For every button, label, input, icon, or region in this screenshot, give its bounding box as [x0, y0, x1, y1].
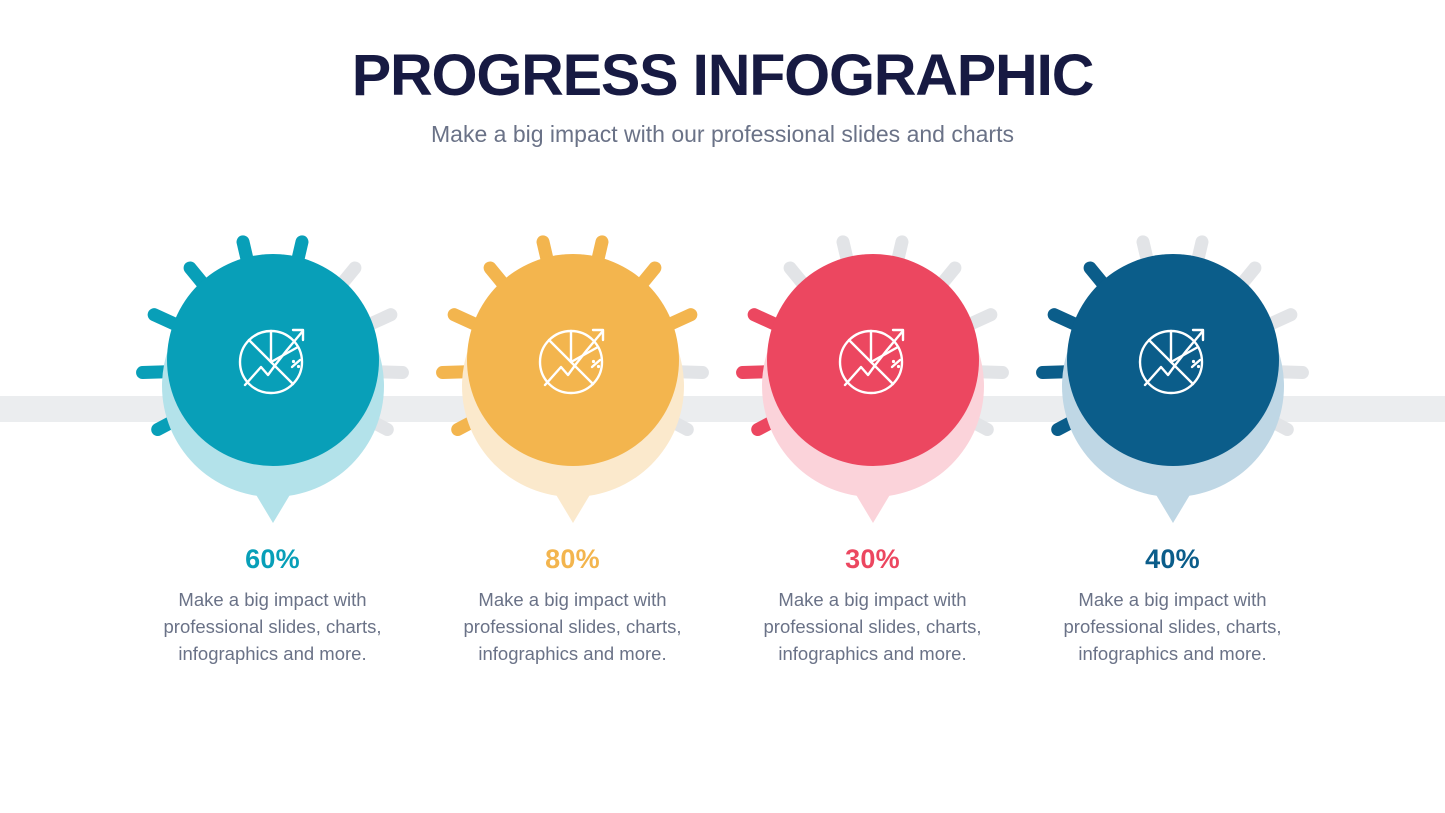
pie-chart-growth-arrow-icon: [530, 317, 616, 403]
progress-card[interactable]: 40%Make a big impact with professional s…: [1023, 218, 1323, 667]
percent-label: 60%: [245, 542, 300, 576]
card-description: Make a big impact with professional slid…: [155, 586, 391, 667]
percent-label: 30%: [845, 542, 900, 576]
progress-circle[interactable]: [167, 254, 379, 466]
pie-chart-growth-arrow-icon: [830, 317, 916, 403]
progress-marker: [1023, 218, 1323, 538]
pie-chart-growth-arrow-icon: [1130, 317, 1216, 403]
progress-cards-row: 60%Make a big impact with professional s…: [0, 218, 1445, 667]
percent-label: 40%: [1145, 542, 1200, 576]
pie-chart-growth-arrow-icon: [230, 317, 316, 403]
progress-marker: [123, 218, 423, 538]
progress-card[interactable]: 30%Make a big impact with professional s…: [723, 218, 1023, 667]
page-title: PROGRESS INFOGRAPHIC: [0, 44, 1445, 108]
progress-card[interactable]: 80%Make a big impact with professional s…: [423, 218, 723, 667]
card-description: Make a big impact with professional slid…: [1055, 586, 1291, 667]
progress-marker: [423, 218, 723, 538]
header: PROGRESS INFOGRAPHIC Make a big impact w…: [0, 44, 1445, 148]
progress-marker: [723, 218, 1023, 538]
progress-circle[interactable]: [467, 254, 679, 466]
card-description: Make a big impact with professional slid…: [455, 586, 691, 667]
progress-circle[interactable]: [767, 254, 979, 466]
progress-circle[interactable]: [1067, 254, 1279, 466]
card-description: Make a big impact with professional slid…: [755, 586, 991, 667]
progress-card[interactable]: 60%Make a big impact with professional s…: [123, 218, 423, 667]
percent-label: 80%: [545, 542, 600, 576]
page-subtitle: Make a big impact with our professional …: [0, 120, 1445, 148]
